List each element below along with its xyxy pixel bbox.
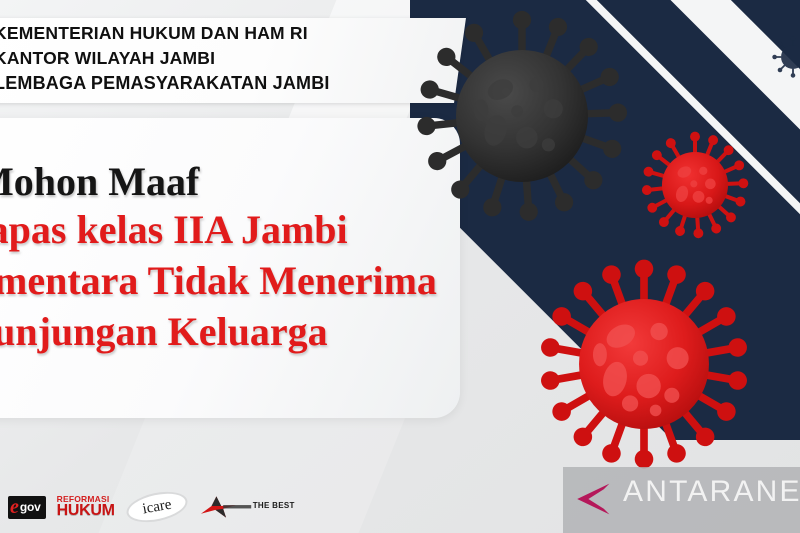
egov-e-mark: e <box>10 497 20 517</box>
agency-line-ministry: KEMENTERIAN HUKUM DAN HAM RI <box>0 21 470 46</box>
logo-wbk-star: THE BEST <box>199 494 295 520</box>
icare-label: icare <box>124 488 190 526</box>
agency-line-region: KANTOR WILAYAH JAMBI <box>0 46 470 71</box>
antaranews-watermark: ANTARANEWS .com <box>563 467 800 533</box>
agency-line-institution: LEMBAGA PEMASYARAKATAN JAMBI <box>0 71 470 96</box>
poster-canvas: KEMENTERIAN HUKUM DAN HAM RI KANTOR WILA… <box>0 0 800 533</box>
headline-line-2: Sementara Tidak Menerima <box>0 255 540 306</box>
virus-red-large-icon <box>528 248 760 480</box>
star-icon <box>199 495 257 524</box>
partner-logo-strip: e gov REFORMASI HUKUM icare THE BEST <box>8 489 295 525</box>
headline-line-1: Lapas kelas IIA Jambi <box>0 204 540 255</box>
headline-line-3: Kunjungan Keluarga <box>0 306 540 357</box>
egov-gov-text: gov <box>20 500 41 514</box>
logo-reformasi-hukum: REFORMASI HUKUM <box>57 495 115 519</box>
virus-red-small-icon <box>636 126 754 244</box>
virus-partial-edge-icon <box>770 34 800 80</box>
star-tagline: THE BEST <box>253 501 295 510</box>
antaranews-arrow-icon <box>573 478 615 525</box>
headline-apology: Mohon Maaf <box>0 160 540 204</box>
reformasi-bottom-text: HUKUM <box>57 503 115 519</box>
logo-icare: icare <box>126 493 188 521</box>
antaranews-text: ANTARANEWS .com <box>623 477 800 523</box>
headline-block: Mohon Maaf Lapas kelas IIA Jambi Sementa… <box>0 160 540 357</box>
agency-header-text: KEMENTERIAN HUKUM DAN HAM RI KANTOR WILA… <box>0 18 470 103</box>
antaranews-brand: ANTARANEWS <box>623 477 800 507</box>
logo-egov: e gov <box>8 496 46 519</box>
